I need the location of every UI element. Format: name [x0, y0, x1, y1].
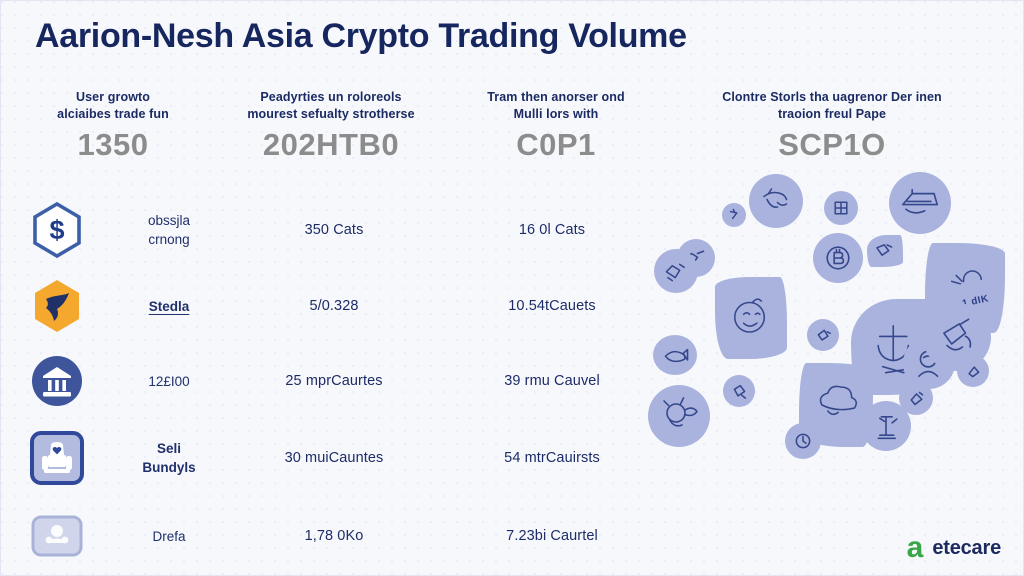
column-header-4-value: SCP1O	[677, 128, 987, 162]
doodle-blob	[824, 191, 858, 225]
column-header-3-line2: Mulli lors with	[453, 106, 659, 123]
bitcoin-doodle-icon	[818, 238, 858, 278]
dollar-hexagon-icon: $	[30, 201, 84, 259]
fish-doodle-icon	[755, 180, 797, 222]
column-header-2-value: 202HTB0	[225, 128, 437, 162]
column-header-4-line1: Clontre Storls tha uagrenor Der inen	[677, 89, 987, 106]
row-icon-cell	[1, 509, 113, 563]
doodle-blob	[785, 423, 821, 459]
column-header-3-line1: Tram then anorser ond	[453, 89, 659, 106]
row-label: Drefa	[113, 527, 225, 546]
row-metric-col3: 54 mtrCauirsts	[443, 450, 661, 466]
tools-doodle-icon	[930, 310, 984, 364]
row-metric-col3: 7.23bi Caurtel	[443, 528, 661, 544]
column-header-4: Clontre Storls tha uagrenor Der inen tra…	[677, 89, 987, 162]
fish-doodle-icon	[658, 340, 692, 371]
column-header-1-value: 1350	[13, 128, 213, 162]
row-icon-cell	[1, 431, 113, 485]
doodle-blob	[923, 303, 991, 371]
doodle-blob	[722, 203, 746, 227]
doodle-blob	[813, 233, 863, 283]
device-doodle-icon	[895, 178, 945, 228]
row-label-line2: Bundyls	[113, 458, 225, 477]
doodle-blob	[723, 375, 755, 407]
table-row: Stedla 5/0.328 10.54tCauets	[1, 267, 661, 345]
table-row: $ obssjla crnong 350 Cats 16 0l Cats	[1, 191, 661, 269]
doodle-cluster: 1 dIK	[661, 177, 1024, 549]
column-header-3-value: C0P1	[453, 128, 659, 162]
row-metric-col2: 25 mprCaurtes	[225, 373, 443, 389]
column-header-1-line2: alciaibes trade fun	[13, 106, 213, 123]
row-metric-col2: 1,78 0Ko	[225, 528, 443, 544]
column-header-2: Peadyrties un roloreols mourest sefualty…	[225, 89, 437, 162]
column-header-2-line1: Peadyrties un roloreols	[225, 89, 437, 106]
row-metric-col2: 350 Cats	[225, 222, 443, 238]
doodle-blob	[867, 235, 903, 267]
row-label-line1: obssjla	[113, 211, 225, 230]
doodle-blob	[648, 385, 710, 447]
column-header-1-line1: User growto	[13, 89, 213, 106]
row-label-line1: Drefa	[113, 527, 225, 546]
clock-doodle-icon	[789, 427, 817, 455]
row-metric-col2: 30 muiCauntes	[225, 450, 443, 466]
row-label: Seli Bundyls	[113, 439, 225, 477]
sketch-doodle-icon	[811, 323, 836, 348]
animal-doodle-icon	[655, 392, 703, 440]
sketch-doodle-icon	[725, 206, 743, 224]
row-metric-col3: 10.54tCauets	[443, 298, 661, 314]
row-label-line1: 12£I00	[113, 372, 225, 391]
row-label-line1: Seli	[113, 439, 225, 458]
brand-mark-icon: a	[907, 535, 924, 561]
sketch-doodle-icon	[727, 379, 752, 404]
table-row: Drefa 1,78 0Ko 7.23bi Caurtel	[1, 497, 661, 575]
infographic-canvas: Aarion-Nesh Asia Crypto Trading Volume U…	[0, 0, 1024, 576]
doodle-blob	[749, 174, 803, 228]
doodle-blob	[861, 401, 911, 451]
column-header-1: User growto alciaibes trade fun 1350	[13, 89, 213, 162]
svg-text:$: $	[49, 215, 64, 245]
row-label: 12£I00	[113, 372, 225, 391]
doodle-blob	[654, 249, 698, 293]
row-label[interactable]: Stedla	[113, 297, 225, 316]
brand-logo: a etecare	[907, 535, 1001, 561]
bird-hexagon-icon	[30, 277, 84, 335]
column-header-4-line2: traoion freul Pape	[677, 106, 987, 123]
doodle-blob	[715, 277, 787, 359]
brand-name: etecare	[932, 537, 1001, 560]
face-doodle-icon	[723, 286, 779, 350]
column-header-2-line2: mourest sefualty strotherse	[225, 106, 437, 123]
sketch-doodle-icon	[871, 239, 899, 264]
row-label: obssjla crnong	[113, 211, 225, 249]
grid-doodle-icon	[828, 195, 854, 221]
bank-circle-icon	[30, 354, 84, 408]
table-row: 12£I00 25 mprCaurtes 39 rmu Cauvel	[1, 342, 661, 420]
column-header-3: Tram then anorser ond Mulli lors with C0…	[453, 89, 659, 162]
row-metric-col3: 39 rmu Cauvel	[443, 373, 661, 389]
row-icon-cell	[1, 277, 113, 335]
row-metric-col2: 5/0.328	[225, 298, 443, 314]
page-title: Aarion-Nesh Asia Crypto Trading Volume	[35, 17, 687, 56]
lamp-doodle-icon	[866, 406, 906, 446]
sketch-doodle-icon	[659, 254, 693, 288]
row-label-line1[interactable]: Stedla	[113, 297, 225, 316]
doodle-blob	[653, 335, 697, 375]
doodle-blob	[807, 319, 839, 351]
table-row: Seli Bundyls 30 muiCauntes 54 mtrCauirst…	[1, 419, 661, 497]
row-metric-col3: 16 0l Cats	[443, 222, 661, 238]
doodle-blob	[889, 172, 951, 234]
row-icon-cell: $	[1, 201, 113, 259]
row-icon-cell	[1, 354, 113, 408]
row-label-line2: crnong	[113, 230, 225, 249]
armchair-square-icon	[30, 431, 84, 485]
faded-badge-icon	[30, 509, 84, 563]
